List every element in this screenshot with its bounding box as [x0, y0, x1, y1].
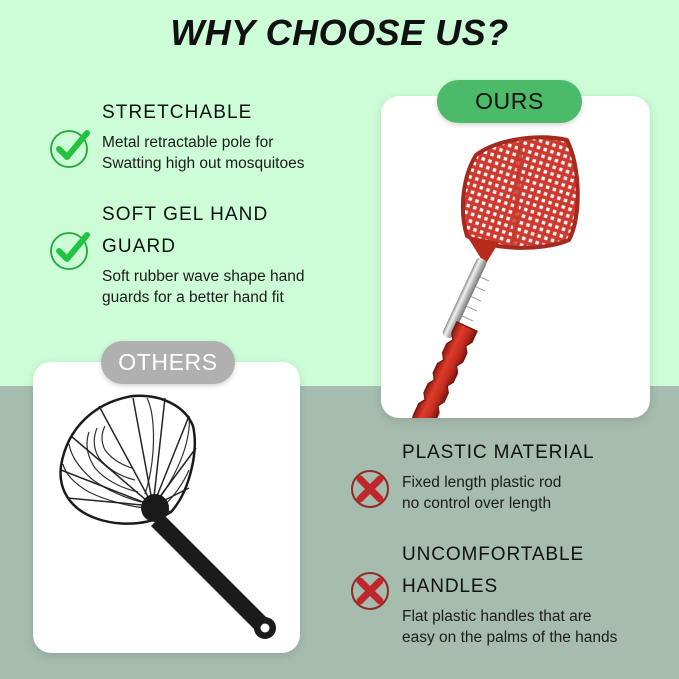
feature-desc-line2: easy on the palms of the hands [402, 627, 673, 648]
swatter-flat-handle [151, 514, 276, 639]
check-circle-icon [48, 126, 92, 170]
feature-title-line2: GUARD [102, 234, 368, 260]
feature-soft-gel-hand-guard: SOFT GEL HAND GUARD Soft rubber wave sha… [48, 202, 368, 308]
feature-desc-line1: Soft rubber wave shape hand [102, 266, 368, 287]
ours-product-image [381, 100, 650, 423]
check-circle-icon [48, 228, 92, 272]
feature-title: PLASTIC MATERIAL [402, 440, 673, 466]
feature-title-line1: SOFT GEL HAND [102, 202, 368, 228]
feature-title-line2: HANDLES [402, 574, 673, 600]
swatter-paddle [463, 137, 578, 248]
cross-circle-icon [348, 466, 392, 510]
feature-desc-line2: guards for a better hand fit [102, 287, 368, 308]
feature-plastic-material: PLASTIC MATERIAL Fixed length plastic ro… [348, 440, 673, 514]
others-product-image [33, 366, 300, 658]
page-title: WHY CHOOSE US? [0, 11, 679, 55]
feature-desc-line1: Flat plastic handles that are [402, 606, 673, 627]
why-choose-us-infographic: WHY CHOOSE US? [0, 0, 679, 679]
feature-desc-line1: Metal retractable pole for [102, 132, 368, 153]
feature-desc-line2: no control over length [402, 493, 673, 514]
feature-title: STRETCHABLE [102, 100, 368, 126]
feature-uncomfortable-handles: UNCOMFORTABLE HANDLES Flat plastic handl… [348, 542, 673, 648]
badge-ours: OURS [437, 80, 582, 123]
feature-title-line1: UNCOMFORTABLE [402, 542, 673, 568]
badge-others: OTHERS [101, 341, 235, 384]
feature-desc-line2: Swatting high out mosquitoes [102, 153, 368, 174]
swatter-fan-paddle [61, 396, 196, 524]
cross-circle-icon [348, 568, 392, 612]
feature-desc-line1: Fixed length plastic rod [402, 472, 673, 493]
feature-stretchable: STRETCHABLE Metal retractable pole for S… [48, 100, 368, 174]
swatter-soft-grip [409, 322, 477, 418]
